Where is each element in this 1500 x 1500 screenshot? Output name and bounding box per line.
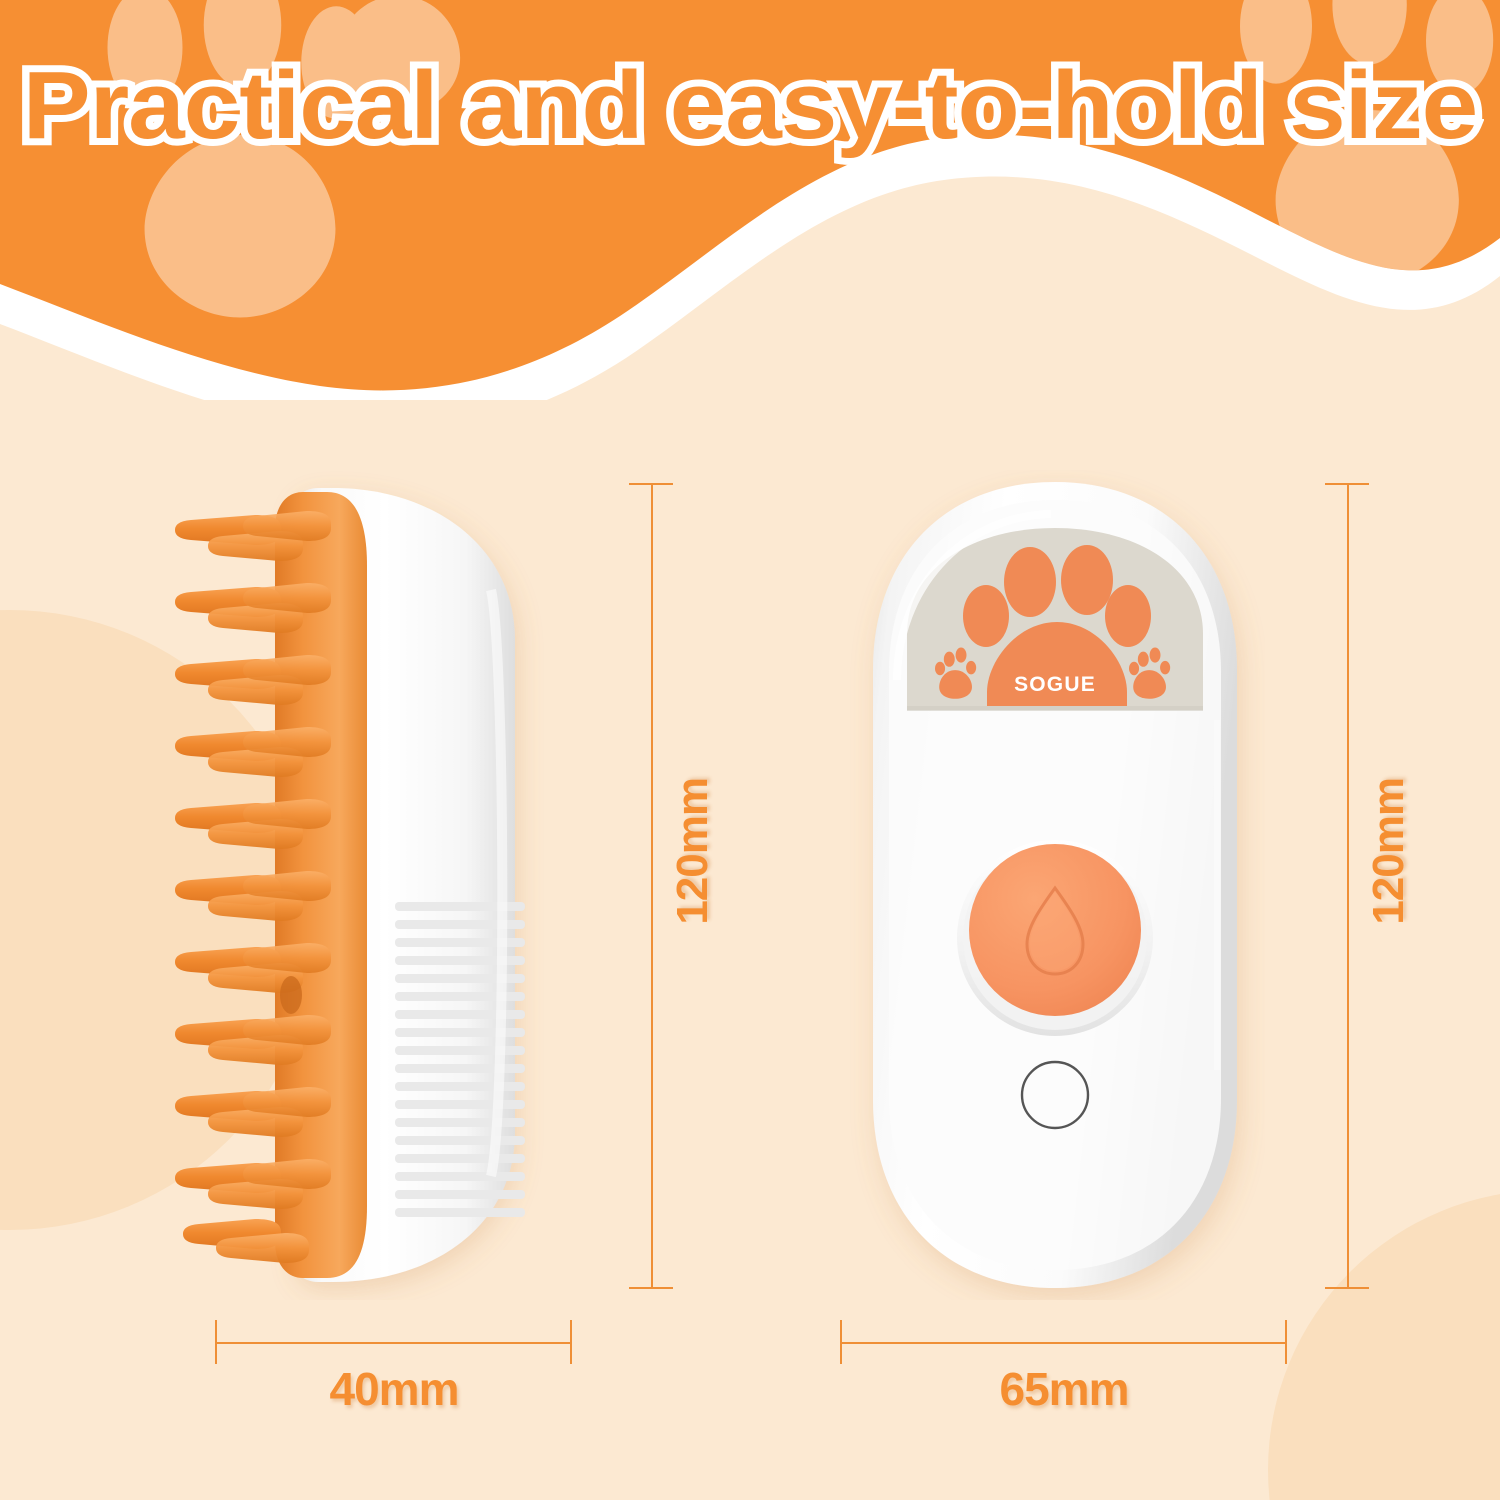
infographic-canvas: Practical and easy-to-hold size bbox=[0, 0, 1500, 1500]
vent-slat bbox=[395, 1208, 525, 1217]
vent-slat bbox=[395, 1136, 525, 1145]
dimension-label-left-height: 120mm bbox=[668, 778, 718, 925]
vent-slat bbox=[395, 1046, 525, 1055]
vent-slat bbox=[395, 1154, 525, 1163]
vent-slat bbox=[395, 1064, 525, 1073]
dimension-label-right-width: 65mm bbox=[835, 1362, 1293, 1416]
vent-slat bbox=[395, 1100, 525, 1109]
steam-outlet-hole bbox=[280, 976, 302, 1014]
product-illustration-group: SOGUE bbox=[0, 0, 1500, 1500]
power-button bbox=[969, 844, 1141, 1016]
dimension-label-right-height: 120mm bbox=[1364, 778, 1414, 925]
product-right-device-front-view: SOGUE bbox=[845, 470, 1265, 1300]
vent-slat bbox=[395, 1118, 525, 1127]
vent-slat bbox=[395, 1190, 525, 1199]
vent-slat bbox=[395, 1172, 525, 1181]
vent-slat bbox=[395, 1082, 525, 1091]
product-left-brush-side-view bbox=[95, 470, 595, 1300]
dimension-label-left-width: 40mm bbox=[210, 1362, 578, 1416]
